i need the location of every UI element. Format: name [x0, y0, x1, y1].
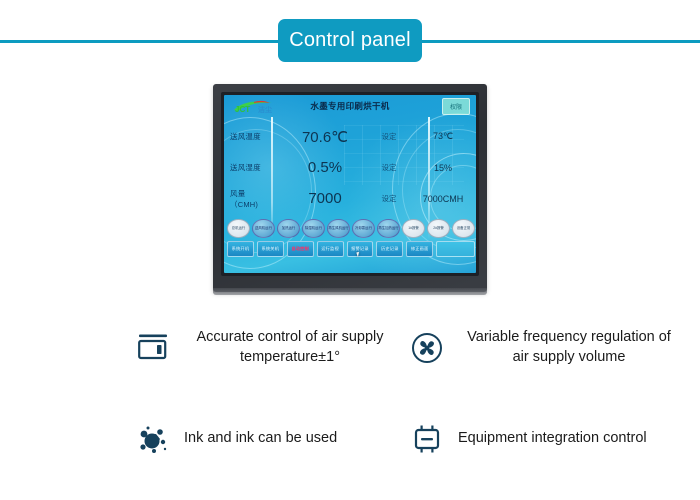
thermostat-icon: [136, 331, 170, 365]
ink-splatter-icon: [136, 422, 170, 456]
feature-item-temperature: Accurate control of air supply temperatu…: [136, 328, 396, 367]
fan-icon: [410, 331, 444, 365]
status-indicator[interactable]: 除湿机运行: [302, 219, 325, 238]
readout-set-value[interactable]: 15%: [412, 163, 474, 173]
readout-row: 风量（CMH) 7000 设定 7000CMH: [224, 183, 476, 214]
hmi-device-stand: [213, 288, 487, 295]
tab-system-start[interactable]: 系统开机: [227, 241, 254, 257]
status-indicator[interactable]: 2#报警: [427, 219, 450, 238]
readout-value: 7000: [286, 190, 364, 207]
hmi-top-bar: JCT 洁尘 水墨专用印刷烘干机 权限: [224, 95, 476, 119]
feature-label: Equipment integration control: [458, 429, 680, 449]
feature-item-equipment: Equipment integration control: [410, 422, 680, 456]
tab-history-log[interactable]: 历史记录: [376, 241, 403, 257]
equipment-icon: [410, 422, 444, 456]
readout-row: 送风湿度 0.5% 设定 15%: [224, 152, 476, 183]
tab-system-stop[interactable]: 系统关机: [257, 241, 284, 257]
readout-set-value[interactable]: 73℃: [412, 131, 474, 142]
status-indicator[interactable]: 1#报警: [402, 219, 425, 238]
tab-correct-screen[interactable]: 修正画面: [406, 241, 433, 257]
readout-set-label[interactable]: 设定: [372, 193, 406, 204]
tab-run-monitor[interactable]: 运行监视: [317, 241, 344, 257]
readout-label: 送风湿度: [230, 162, 272, 173]
status-indicator[interactable]: 加热运行: [277, 219, 300, 238]
status-indicator[interactable]: 设备正常: [452, 219, 475, 238]
readout-label: 送风温度: [230, 131, 272, 142]
feature-item-ink: Ink and ink can be used: [136, 422, 396, 456]
page-header: Control panel: [0, 0, 700, 78]
hmi-readout-rows: 送风温度 70.6℃ 设定 73℃ 送风湿度 0.5% 设定 15% 风量（CM…: [224, 121, 476, 214]
status-indicator[interactable]: 再生风机运行: [327, 219, 350, 238]
hmi-screen-title: 水墨专用印刷烘干机: [224, 100, 476, 112]
status-indicator-row: 总机运行 送风机运行 加热运行 除湿机运行 再生风机运行 冷却泵运行 再生加热运…: [227, 219, 475, 238]
readout-row: 送风温度 70.6℃ 设定 73℃: [224, 121, 476, 152]
feature-label: Ink and ink can be used: [184, 429, 394, 449]
permission-button[interactable]: 权限: [442, 98, 470, 115]
status-indicator[interactable]: 总机运行: [227, 219, 250, 238]
tab-auto-control[interactable]: 自动控制: [287, 241, 314, 257]
readout-value: 70.6℃: [286, 128, 364, 146]
readout-set-label[interactable]: 设定: [372, 131, 406, 142]
readout-set-label[interactable]: 设定: [372, 162, 406, 173]
tab-extra-panel[interactable]: [436, 241, 475, 257]
hmi-tab-bar: 系统开机 系统关机 自动控制 运行监视 报警记录 历史记录 修正画面: [227, 241, 475, 257]
feature-list: Accurate control of air supply temperatu…: [0, 312, 700, 500]
feature-label: Accurate control of air supply temperatu…: [184, 328, 396, 367]
feature-item-fan: Variable frequency regulation of air sup…: [410, 328, 680, 367]
page-title-badge: Control panel: [278, 19, 422, 62]
status-indicator[interactable]: 冷却泵运行: [352, 219, 375, 238]
readout-label: 风量（CMH): [230, 188, 272, 210]
status-indicator[interactable]: 送风机运行: [252, 219, 275, 238]
status-indicator[interactable]: 再生加热运行: [377, 219, 400, 238]
readout-value: 0.5%: [286, 159, 364, 176]
hmi-screen[interactable]: JCT 洁尘 水墨专用印刷烘干机 权限 送风温度 70.6℃ 设定 73℃ 送风…: [224, 95, 476, 273]
readout-set-value[interactable]: 7000CMH: [412, 194, 474, 204]
feature-label: Variable frequency regulation of air sup…: [458, 328, 680, 367]
hmi-device-frame: JCT 洁尘 水墨专用印刷烘干机 权限 送风温度 70.6℃ 设定 73℃ 送风…: [213, 84, 487, 292]
